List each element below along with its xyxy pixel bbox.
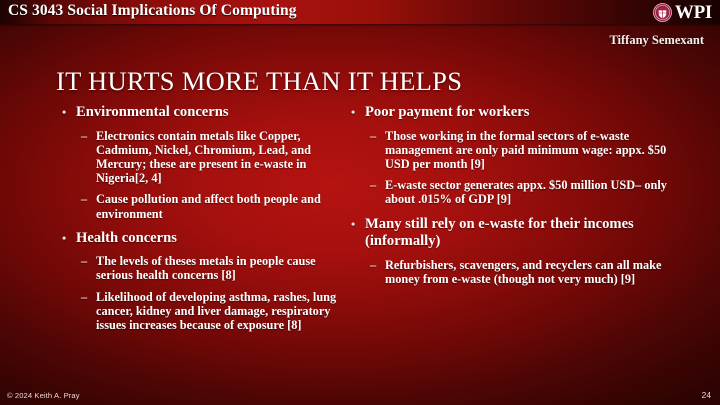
sub-bullet-text: Cause pollution and affect both people a… [96, 192, 321, 220]
slide-title: IT HURTS MORE THAN IT HELPS [56, 66, 462, 97]
bullet-heading-text: Many still rely on e-waste for their inc… [365, 216, 634, 250]
sub-bullet-text: Electronics contain metals like Copper, … [96, 129, 311, 186]
bullet-heading: • Environmental concerns [56, 104, 341, 122]
sub-bullet: – Cause pollution and affect both people… [56, 192, 341, 220]
bullet-heading: • Many still rely on e-waste for their i… [345, 216, 667, 251]
wpi-logo: WPI [653, 1, 712, 23]
dash-icon: – [370, 129, 376, 143]
dash-icon: – [81, 129, 87, 143]
bullet-heading: • Health concerns [56, 230, 341, 248]
dash-icon: – [81, 254, 87, 268]
bullet-group: • Poor payment for workers – Those worki… [345, 104, 667, 207]
bullet-heading-text: Poor payment for workers [365, 104, 529, 120]
sub-bullet-text: E-waste sector generates appx. $50 milli… [385, 178, 667, 206]
sub-bullet: – E-waste sector generates appx. $50 mil… [345, 178, 667, 206]
sub-bullet-text: Likelihood of developing asthma, rashes,… [96, 290, 336, 332]
content-column-right: • Poor payment for workers – Those worki… [345, 104, 667, 295]
bullet-dot-icon: • [62, 230, 66, 248]
sub-bullet: – The levels of theses metals in people … [56, 254, 341, 282]
sub-bullet: – Likelihood of developing asthma, rashe… [56, 290, 341, 333]
dash-icon: – [81, 290, 87, 304]
sub-bullet: – Those working in the formal sectors of… [345, 129, 667, 172]
bullet-group: • Health concerns – The levels of theses… [56, 230, 341, 333]
footer-copyright: © 2024 Keith A. Pray [7, 391, 80, 400]
course-title: CS 3043 Social Implications Of Computing [8, 2, 297, 20]
slide-header-band: CS 3043 Social Implications Of Computing… [0, 0, 720, 24]
bullet-dot-icon: • [351, 216, 355, 234]
sub-bullet: – Refurbishers, scavengers, and recycler… [345, 258, 667, 286]
dash-icon: – [370, 258, 376, 272]
sub-bullet: – Electronics contain metals like Copper… [56, 129, 341, 186]
bullet-group: • Many still rely on e-waste for their i… [345, 216, 667, 286]
author-name: Tiffany Semexant [609, 33, 704, 48]
wpi-seal-icon [653, 3, 672, 22]
dash-icon: – [370, 178, 376, 192]
content-column-left: • Environmental concerns – Electronics c… [56, 104, 341, 341]
sub-bullet-text: Those working in the formal sectors of e… [385, 129, 666, 171]
dash-icon: – [81, 192, 87, 206]
bullet-dot-icon: • [62, 104, 66, 122]
sub-bullet-text: Refurbishers, scavengers, and recyclers … [385, 258, 661, 286]
bullet-dot-icon: • [351, 104, 355, 122]
bullet-heading-text: Environmental concerns [76, 104, 229, 120]
slide-page-number: 24 [702, 390, 711, 400]
bullet-heading-text: Health concerns [76, 230, 177, 246]
bullet-heading: • Poor payment for workers [345, 104, 667, 122]
presentation-slide: CS 3043 Social Implications Of Computing… [0, 0, 720, 405]
bullet-group: • Environmental concerns – Electronics c… [56, 104, 341, 221]
sub-bullet-text: The levels of theses metals in people ca… [96, 254, 316, 282]
wpi-wordmark: WPI [675, 3, 712, 22]
